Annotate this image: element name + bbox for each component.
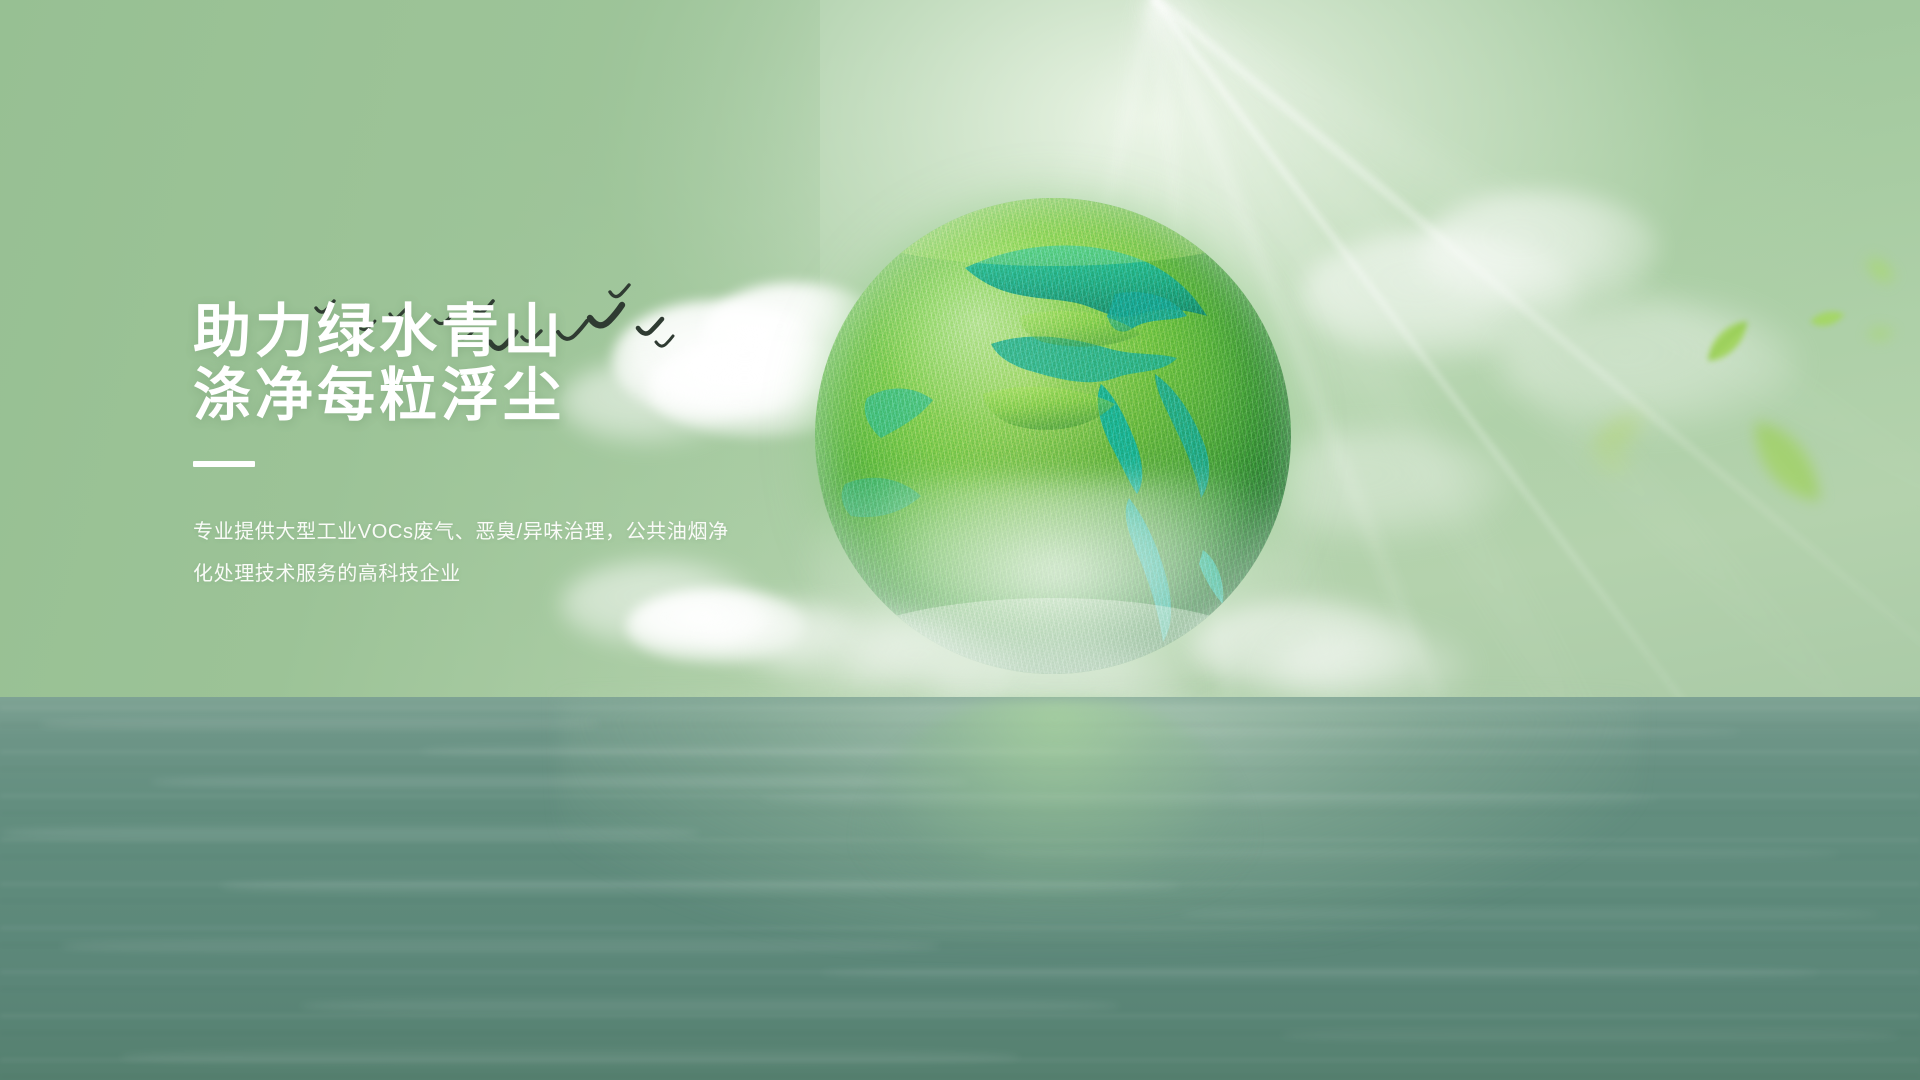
floating-leaves <box>1380 230 1920 650</box>
headline-divider <box>193 461 255 467</box>
wave-line <box>300 997 1120 1015</box>
wave-line <box>0 825 700 841</box>
wave-line <box>1280 1027 1900 1043</box>
subtitle-line-2: 化处理技术服务的高科技企业 <box>193 553 733 595</box>
wave-line <box>40 719 600 729</box>
wave-line <box>1180 907 1880 921</box>
hero-copy: 助力绿水青山 涤净每粒浮尘 专业提供大型工业VOCs废气、恶臭/异味治理，公共油… <box>193 300 833 595</box>
hero-subtitle: 专业提供大型工业VOCs废气、恶臭/异味治理，公共油烟净 化处理技术服务的高科技… <box>193 511 733 595</box>
wave-line <box>150 775 970 789</box>
wave-line <box>820 965 1820 981</box>
leaf-icon <box>1859 249 1902 291</box>
leaf-icon <box>1696 315 1761 369</box>
globe-rim-light <box>815 198 1291 674</box>
leaf-icon <box>1865 322 1895 345</box>
wave-line <box>120 1047 1020 1067</box>
wave-line <box>1100 727 1740 737</box>
headline-line-2: 涤净每粒浮尘 <box>193 364 833 428</box>
headline-line-1: 助力绿水青山 <box>193 300 833 364</box>
hero-banner: 助力绿水青山 涤净每粒浮尘 专业提供大型工业VOCs废气、恶臭/异味治理，公共油… <box>0 0 1920 1080</box>
leaf-icon <box>1728 402 1845 527</box>
cloud <box>840 620 1020 698</box>
leaf-icon <box>1808 305 1846 334</box>
subtitle-line-1: 专业提供大型工业VOCs废气、恶臭/异味治理，公共油烟净 <box>193 511 733 553</box>
wave-line <box>60 937 940 955</box>
